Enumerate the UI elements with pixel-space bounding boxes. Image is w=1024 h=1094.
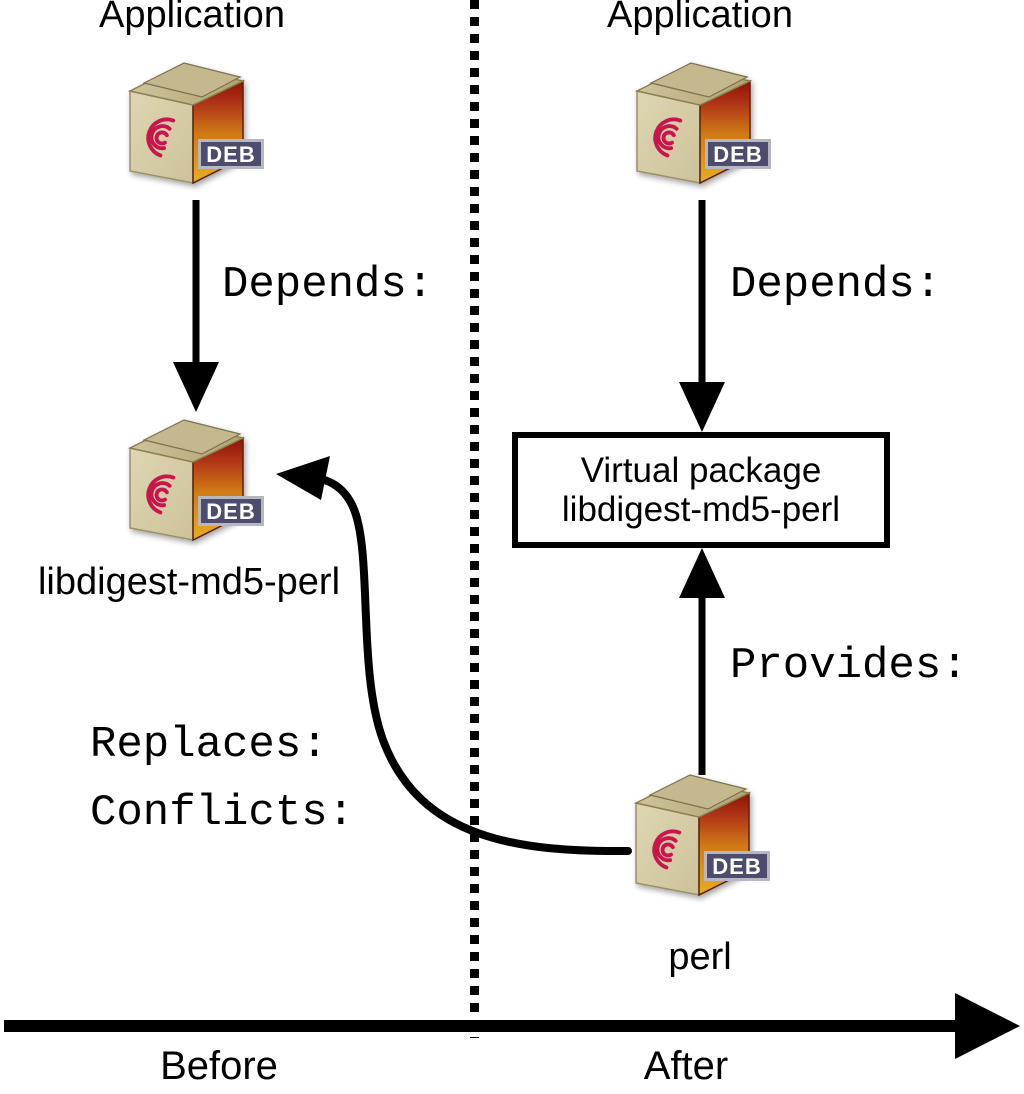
before-depends-arrow xyxy=(173,200,219,412)
deb-badge: DEB xyxy=(705,139,771,169)
deb-badge: DEB xyxy=(198,496,264,526)
after-application-package-icon: DEB xyxy=(625,53,780,193)
virtual-package-line1: Virtual package xyxy=(581,451,822,490)
diagram-canvas: Application xyxy=(0,0,1024,1094)
after-depends-label: Depends: xyxy=(730,262,941,308)
before-application-package-icon: DEB xyxy=(118,53,273,193)
deb-badge: DEB xyxy=(704,851,770,881)
before-libdigest-caption: libdigest-md5-perl xyxy=(38,563,340,603)
after-provides-arrow xyxy=(679,548,725,775)
replaces-label: Replaces: xyxy=(90,722,328,768)
svg-text:DEB: DEB xyxy=(206,499,255,524)
conflicts-label: Conflicts: xyxy=(90,790,354,836)
virtual-package-box: Virtual package libdigest-md5-perl xyxy=(512,432,890,548)
deb-badge: DEB xyxy=(198,139,264,169)
provides-label: Provides: xyxy=(730,643,968,689)
svg-text:DEB: DEB xyxy=(713,142,762,167)
after-depends-arrow xyxy=(679,200,725,432)
timeline-axis xyxy=(4,993,1020,1059)
before-application-label: Application xyxy=(99,0,285,36)
virtual-package-line2: libdigest-md5-perl xyxy=(562,490,840,529)
before-depends-label: Depends: xyxy=(222,262,433,308)
after-application-label: Application xyxy=(607,0,793,36)
after-perl-package-icon: DEB xyxy=(624,765,779,905)
timeline-before-label: Before xyxy=(160,1045,278,1087)
svg-text:DEB: DEB xyxy=(206,142,255,167)
svg-text:DEB: DEB xyxy=(712,854,761,879)
after-perl-caption: perl xyxy=(668,938,731,978)
timeline-after-label: After xyxy=(644,1045,728,1087)
before-libdigest-package-icon: DEB xyxy=(118,410,273,550)
before-after-divider xyxy=(470,0,479,1038)
